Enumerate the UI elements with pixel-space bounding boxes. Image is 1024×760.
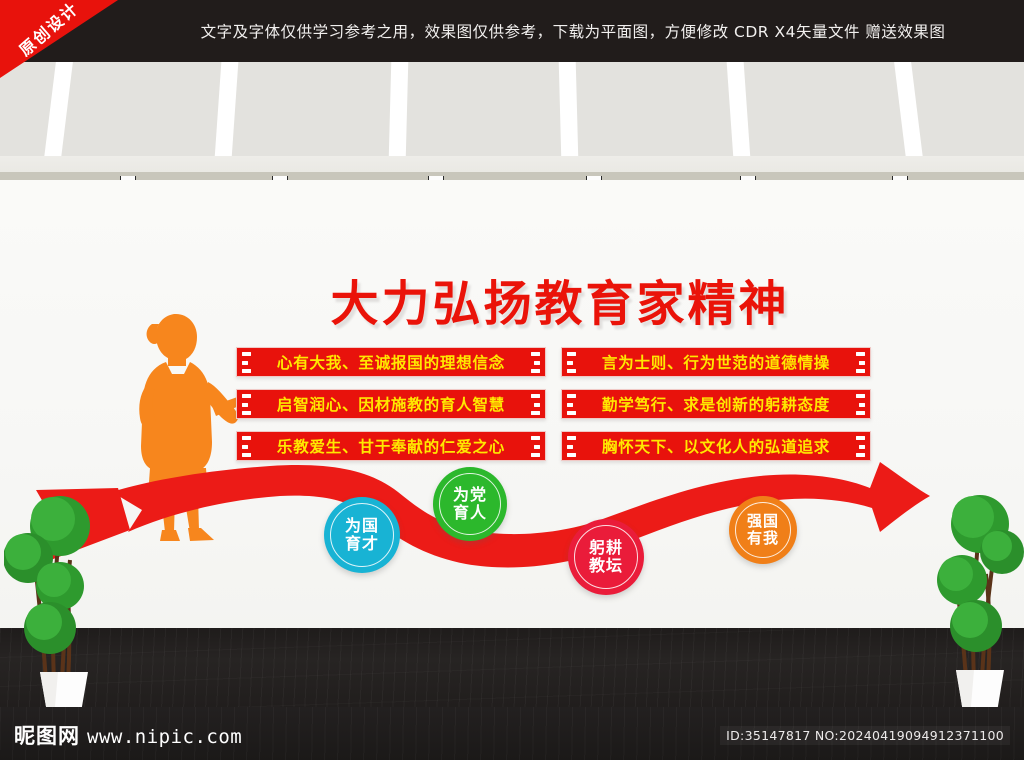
slogan-text: 言为士则、行为世范的道德情操 (602, 351, 830, 373)
brand-name-cn: 昵图网 (14, 720, 80, 750)
circle-gonggeng-jiaotan[interactable]: 躬耕教坛 (568, 519, 644, 595)
slogan-bar: 言为士则、行为世范的道德情操 (561, 347, 871, 377)
ceiling-fascia (0, 156, 1024, 172)
asset-id-text: ID:35147817 NO:20240419094912371100 (720, 726, 1010, 745)
ceiling-light-strip (559, 62, 579, 162)
site-brand: 昵图网 www.nipic.com (14, 720, 242, 750)
ceiling-light-strip (389, 62, 409, 162)
bar-ornament-right-icon (856, 352, 865, 373)
bar-ornament-left-icon (242, 352, 251, 373)
showroom-scene: 大力弘扬教育家精神 (0, 62, 1024, 707)
red-ribbon-graphic (0, 392, 1024, 612)
circle-label: 躬耕教坛 (589, 539, 623, 575)
bar-ornament-left-icon (567, 352, 576, 373)
bar-ornament-right-icon (531, 352, 540, 373)
slogan-bar: 心有大我、至诚报国的理想信念 (236, 347, 546, 377)
slogan-text: 心有大我、至诚报国的理想信念 (277, 351, 505, 373)
footer-watermark-bar: 昵图网 www.nipic.com ID:35147817 NO:2024041… (0, 707, 1024, 760)
circle-qiangguo-youwo[interactable]: 强国有我 (729, 496, 797, 564)
circle-weiguo-yucai[interactable]: 为国育才 (324, 497, 400, 573)
ceiling-rail (0, 172, 1024, 180)
circle-label: 为党育人 (453, 486, 487, 522)
circle-weidang-yuren[interactable]: 为党育人 (433, 467, 507, 541)
ceiling (0, 62, 1024, 156)
circle-label: 强国有我 (747, 513, 779, 547)
ceiling-light-strip (214, 62, 238, 162)
ceiling-light-strip (726, 62, 750, 162)
topiary-plant-left (4, 480, 126, 707)
topiary-plant-right (926, 480, 1024, 707)
page-title: 大力弘扬教育家精神 (330, 280, 790, 328)
wood-floor (0, 628, 1024, 707)
ceiling-light-strip (894, 62, 924, 162)
brand-url: www.nipic.com (87, 726, 242, 748)
top-notice-bar: 文字及字体仅供学习参考之用，效果图仅供参考，下载为平面图，方便修改 CDR X4… (0, 0, 1024, 62)
circle-label: 为国育才 (345, 517, 379, 553)
top-notice-text: 文字及字体仅供学习参考之用，效果图仅供参考，下载为平面图，方便修改 CDR X4… (140, 0, 1006, 62)
